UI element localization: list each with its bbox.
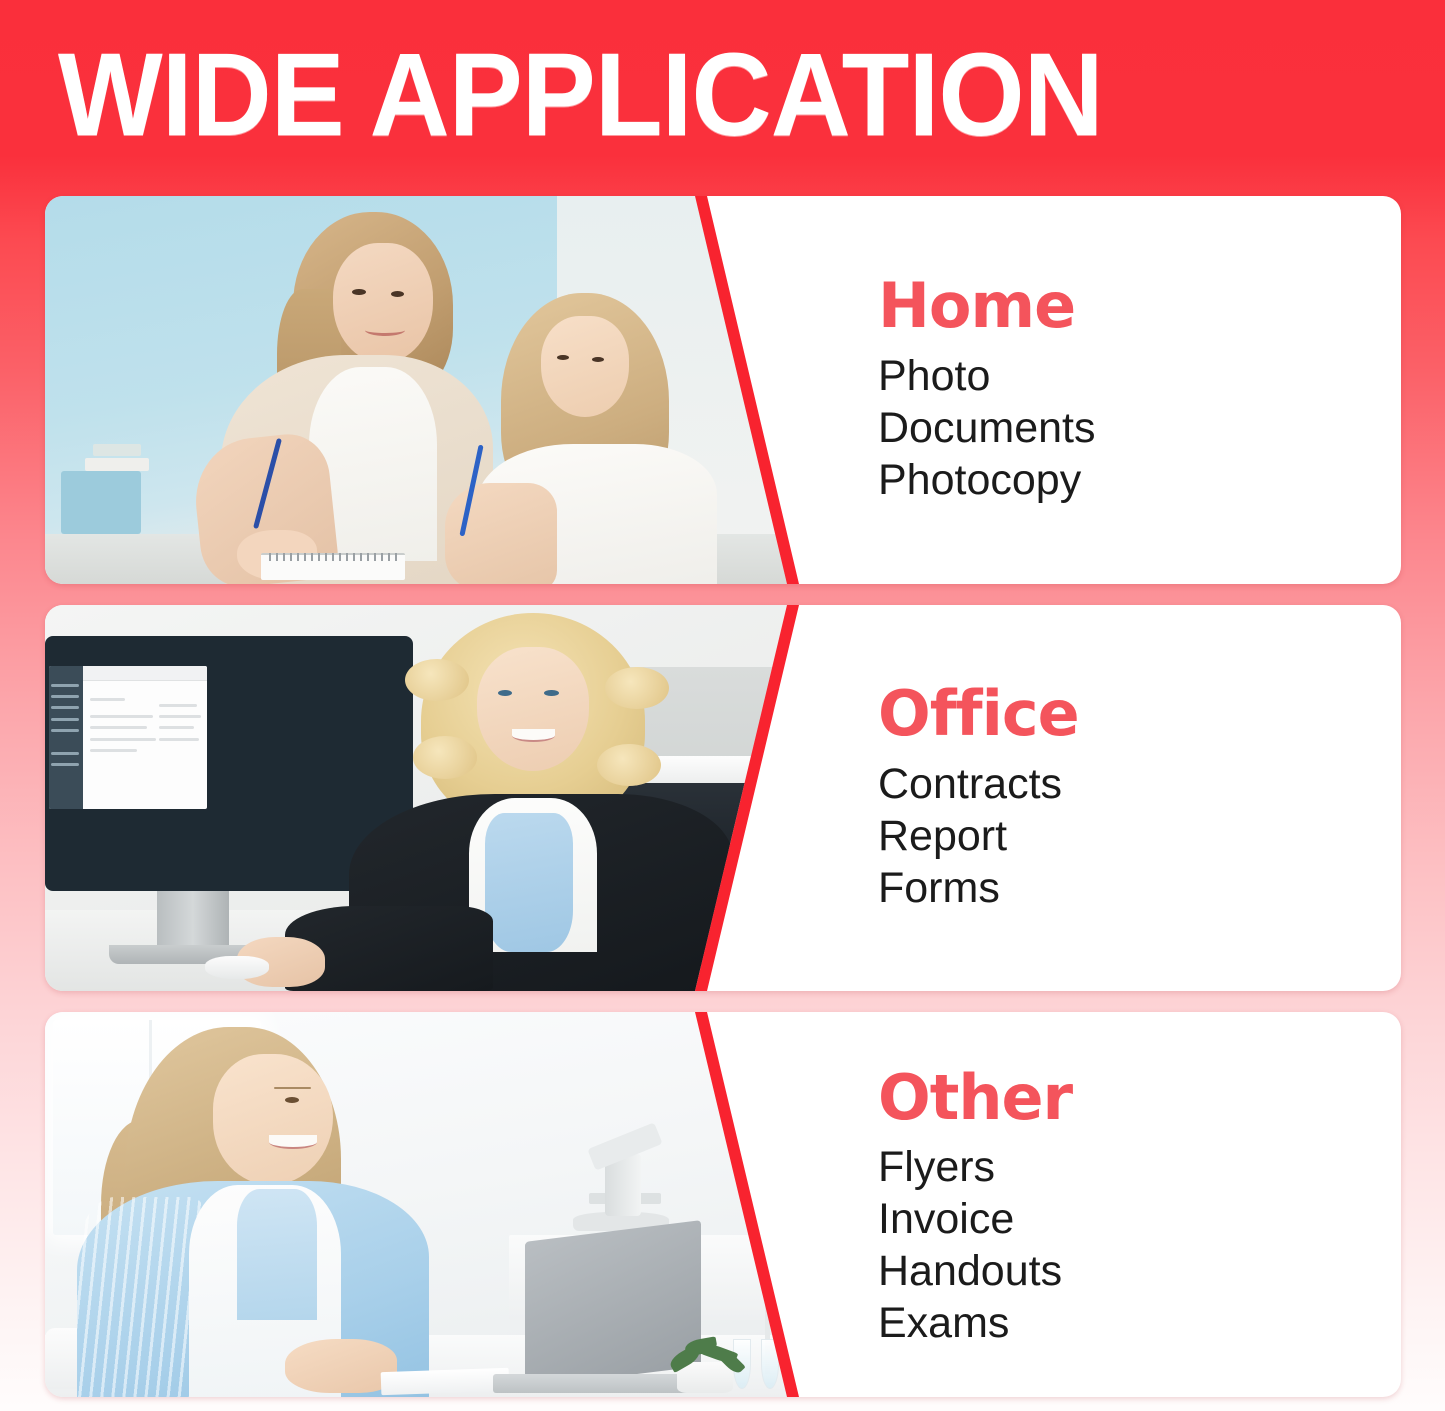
card-list-other: Flyers Invoice Handouts Exams — [878, 1141, 1401, 1349]
photo-papers — [381, 1368, 510, 1396]
photo-cardigan-texture — [77, 1197, 205, 1397]
photo-woman-smile — [269, 1135, 317, 1149]
list-item: Flyers — [878, 1141, 1401, 1193]
photo-woman-bow-tie — [485, 813, 573, 952]
list-item: Photo — [878, 350, 1401, 402]
photo-monitor-stand — [157, 891, 229, 953]
header-banner: WIDE APPLICATION — [0, 0, 1445, 196]
list-item: Forms — [878, 862, 1401, 914]
list-item: Invoice — [878, 1193, 1401, 1245]
card-title-home: Home — [878, 274, 1401, 337]
photo-adult-face — [333, 243, 433, 363]
list-item: Photocopy — [878, 454, 1401, 506]
photo-woman-face — [477, 647, 589, 771]
photo-woman-shirt — [237, 1189, 317, 1320]
photo-screen-toolbar — [83, 666, 206, 680]
photo-mouse — [205, 956, 269, 979]
card-title-office: Office — [878, 682, 1401, 745]
photo-screen-sidebar — [49, 666, 84, 809]
photo-woman-eyebrow — [274, 1087, 311, 1089]
page-title: WIDE APPLICATION — [58, 36, 1103, 154]
infographic-page: WIDE APPLICATION — [0, 0, 1445, 1411]
application-card-home[interactable]: Home Photo Documents Photocopy — [45, 196, 1401, 584]
photo-woman-eye — [285, 1097, 299, 1103]
photo-woman-smile — [512, 729, 555, 742]
list-item: Documents — [878, 402, 1401, 454]
photo-book — [85, 458, 149, 472]
photo-monitor-screen — [49, 666, 207, 809]
card-text-home: Home Photo Documents Photocopy — [761, 196, 1401, 584]
list-item: Handouts — [878, 1245, 1401, 1297]
card-list-office: Contracts Report Forms — [878, 758, 1401, 914]
card-list-home: Photo Documents Photocopy — [878, 350, 1401, 506]
photo-book — [93, 444, 141, 456]
photo-child-face — [541, 316, 629, 417]
card-photo-office — [45, 605, 845, 991]
list-item: Exams — [878, 1297, 1401, 1349]
application-card-other[interactable]: Other Flyers Invoice Handouts Exams — [45, 1012, 1401, 1397]
card-photo-home — [45, 196, 845, 584]
card-text-office: Office Contracts Report Forms — [761, 605, 1401, 991]
card-title-other: Other — [878, 1066, 1401, 1129]
card-photo-other — [45, 1012, 845, 1397]
photo-shelf — [61, 471, 141, 533]
list-item: Report — [878, 810, 1401, 862]
application-card-office[interactable]: Office Contracts Report Forms — [45, 605, 1401, 991]
list-item: Contracts — [878, 758, 1401, 810]
photo-plant-pot — [677, 1362, 733, 1393]
card-text-other: Other Flyers Invoice Handouts Exams — [761, 1012, 1401, 1397]
photo-notebook-coil — [269, 553, 397, 561]
photo-woman-eye — [544, 690, 558, 696]
photo-adult-smile — [365, 324, 405, 336]
